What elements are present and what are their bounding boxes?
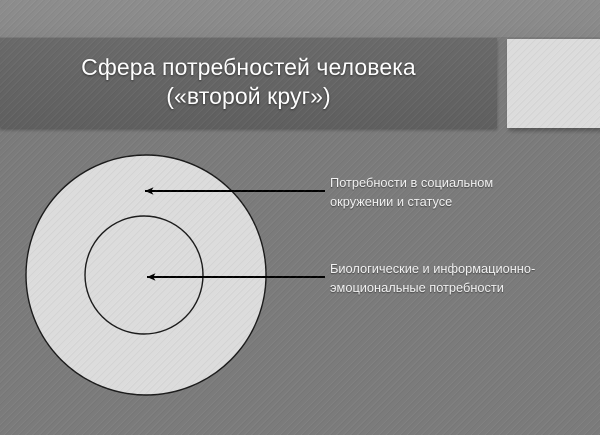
callout-label-biological-needs: Биологические и информационно- эмоционал… <box>330 259 596 297</box>
title-bar: Сфера потребностей человека («второй кру… <box>0 38 497 128</box>
concentric-circles-diagram <box>0 130 330 430</box>
top-right-placeholder-panel <box>507 39 600 128</box>
callout-label-social-needs: Потребности в социальном окружении и ста… <box>330 173 592 211</box>
diagram-svg <box>0 130 330 430</box>
inner-circle <box>85 216 203 334</box>
slide-top-band <box>0 0 600 37</box>
slide-canvas: Сфера потребностей человека («второй кру… <box>0 0 600 435</box>
slide-title: Сфера потребностей человека («второй кру… <box>81 53 416 113</box>
